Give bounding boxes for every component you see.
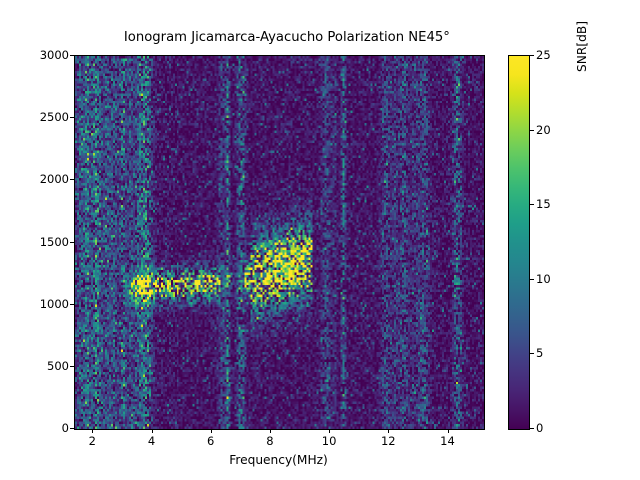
colorbar-tick-mark [530, 130, 534, 131]
colorbar-tick-label: 25 [536, 48, 551, 62]
x-tick-mark [329, 429, 330, 433]
colorbar-tick-mark [530, 353, 534, 354]
x-axis-label: Frequency(MHz) [74, 453, 483, 467]
colorbar [508, 55, 530, 430]
x-tick-label: 14 [440, 434, 455, 448]
x-tick-label: 2 [89, 434, 96, 448]
colorbar-tick-label: 5 [536, 346, 543, 360]
x-tick-mark [152, 429, 153, 433]
x-tick-label: 12 [381, 434, 396, 448]
x-tick-label: 4 [148, 434, 155, 448]
y-tick-label: 1500 [40, 235, 69, 249]
x-tick-label: 10 [322, 434, 337, 448]
ionogram-plot-axes [74, 55, 485, 430]
colorbar-tick-label: 15 [536, 197, 551, 211]
x-tick-mark [211, 429, 212, 433]
y-tick-mark [70, 304, 74, 305]
y-tick-mark [70, 117, 74, 118]
x-tick-mark [388, 429, 389, 433]
y-tick-mark [70, 242, 74, 243]
y-tick-mark [70, 179, 74, 180]
y-tick-mark [70, 428, 74, 429]
colorbar-tick-mark [530, 428, 534, 429]
x-tick-mark [92, 429, 93, 433]
colorbar-tick-mark [530, 55, 534, 56]
colorbar-gradient [509, 56, 529, 429]
ionogram-figure: Ionogram Jicamarca-Ayacucho Polarization… [0, 0, 640, 480]
colorbar-tick-mark [530, 279, 534, 280]
y-tick-label: 0 [62, 421, 69, 435]
x-tick-mark [270, 429, 271, 433]
x-tick-label: 6 [207, 434, 214, 448]
y-tick-label: 1000 [40, 297, 69, 311]
y-tick-mark [70, 55, 74, 56]
colorbar-tick-label: 20 [536, 123, 551, 137]
figure-title-line1: Ionogram Jicamarca-Ayacucho Polarization… [124, 30, 450, 45]
y-tick-label: 3000 [40, 48, 69, 62]
y-tick-label: 500 [47, 359, 69, 373]
colorbar-label: SNR[dB] [575, 0, 591, 233]
colorbar-tick-mark [530, 204, 534, 205]
colorbar-tick-label: 0 [536, 421, 543, 435]
ionogram-heatmap [75, 56, 484, 429]
x-tick-label: 8 [266, 434, 273, 448]
y-tick-label: 2500 [40, 110, 69, 124]
x-tick-mark [448, 429, 449, 433]
y-tick-label: 2000 [40, 172, 69, 186]
y-tick-mark [70, 366, 74, 367]
colorbar-tick-label: 10 [536, 272, 551, 286]
